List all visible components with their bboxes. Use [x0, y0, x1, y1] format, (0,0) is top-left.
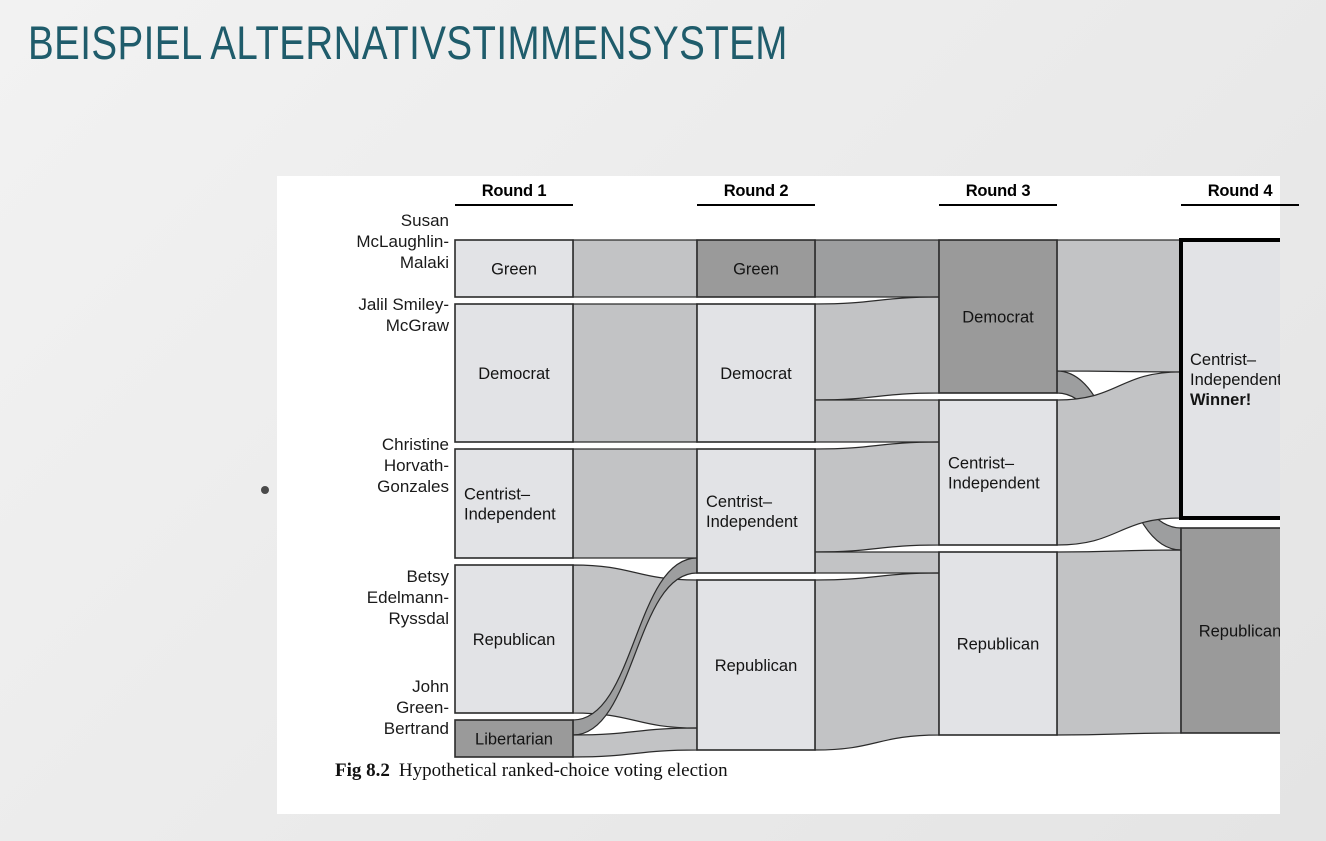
flow-r3-dem-to-r4-cent — [1057, 240, 1181, 372]
node-label-r1-rep-line1: Republican — [473, 631, 556, 649]
node-r2-cent[interactable] — [697, 449, 815, 573]
node-label-r2-dem-line1: Democrat — [720, 365, 792, 383]
node-label-r2-green-line1: Green — [733, 261, 779, 279]
flow-r2-green-to-r3-dem — [815, 240, 939, 297]
figure-panel: SusanMcLaughlin-MalakiJalil Smiley-McGra… — [277, 176, 1280, 814]
flow-r1-lib-to-r2-rep — [573, 728, 697, 757]
node-label-r1-cent-line2: Independent — [464, 506, 556, 524]
flow-r2-cent-to-r3-cent — [815, 442, 939, 552]
node-label-r3-cent-line2: Independent — [948, 475, 1040, 493]
node-label-r3-cent-line1: Centrist– — [948, 455, 1015, 473]
flow-ribbons-layer — [573, 240, 1181, 757]
node-label-r3-dem-line1: Democrat — [962, 309, 1034, 327]
node-label-r1-cent-line1: Centrist– — [464, 486, 531, 504]
node-r1-cent[interactable] — [455, 449, 573, 558]
node-label-r3-rep-line1: Republican — [957, 636, 1040, 654]
figure-caption: Fig 8.2Hypothetical ranked-choice voting… — [335, 760, 728, 782]
bullet-point-marker — [261, 486, 269, 494]
node-label-r2-cent-line1: Centrist– — [706, 493, 773, 511]
flow-r2-cent-to-r3-rep — [815, 552, 939, 573]
node-label-r4-cent-line1: Centrist– — [1190, 351, 1257, 369]
flow-r2-rep-to-r3-rep — [815, 573, 939, 750]
ranked-choice-sankey-diagram: GreenDemocratCentrist–IndependentRepubli… — [277, 176, 1280, 776]
node-label-r2-cent-line2: Independent — [706, 513, 798, 531]
node-r3-cent[interactable] — [939, 400, 1057, 545]
flow-r2-dem-to-r3-cent — [815, 400, 939, 442]
flow-r1-cent-to-r2-cent — [573, 449, 697, 558]
node-label-r1-dem-line1: Democrat — [478, 365, 550, 383]
page-title: BEISPIEL ALTERNATIVSTIMMENSYSTEM — [28, 18, 788, 67]
figure-number: Fig 8.2 — [335, 760, 390, 781]
node-label-r4-cent-line3: Winner! — [1190, 391, 1251, 409]
node-label-r4-cent-line2: Independent — [1190, 371, 1280, 389]
node-label-r4-rep-line1: Republican — [1199, 623, 1280, 641]
flow-r1-green-to-r2-green — [573, 240, 697, 297]
node-label-r1-green-line1: Green — [491, 261, 537, 279]
flow-r2-dem-to-r3-dem — [815, 297, 939, 400]
node-label-r1-lib-line1: Libertarian — [475, 731, 553, 749]
flow-r3-rep-to-r4-rep — [1057, 550, 1181, 735]
flow-r1-dem-to-r2-dem — [573, 304, 697, 442]
figure-caption-text: Hypothetical ranked-choice voting electi… — [399, 760, 728, 781]
node-label-r2-rep-line1: Republican — [715, 657, 798, 675]
